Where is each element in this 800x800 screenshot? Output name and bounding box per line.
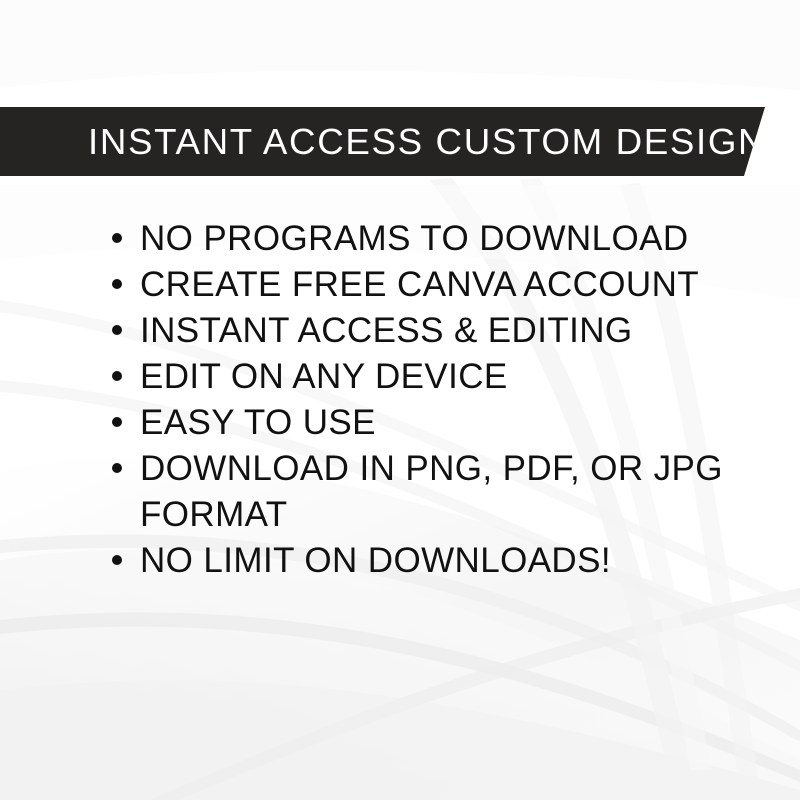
page-title: INSTANT ACCESS CUSTOM DESIGNS (88, 124, 792, 160)
list-item-continuation: FORMAT (112, 492, 712, 538)
list-item-label: CREATE FREE CANVA ACCOUNT (140, 262, 699, 308)
list-item-label: FORMAT (140, 492, 288, 538)
list-item-label: NO PROGRAMS TO DOWNLOAD (140, 216, 689, 262)
list-item-label: INSTANT ACCESS & EDITING (140, 308, 633, 354)
list-item: NO LIMIT ON DOWNLOADS! (112, 538, 712, 584)
promo-graphic: INSTANT ACCESS CUSTOM DESIGNS NO PROGRAM… (0, 0, 800, 800)
bullet-icon (112, 417, 122, 427)
list-item: DOWNLOAD IN PNG, PDF, OR JPG (112, 446, 712, 492)
bullet-icon (112, 463, 122, 473)
list-item-label: DOWNLOAD IN PNG, PDF, OR JPG (140, 446, 723, 492)
bullet-placeholder (112, 509, 122, 519)
feature-list: NO PROGRAMS TO DOWNLOAD CREATE FREE CANV… (112, 216, 712, 584)
bullet-icon (112, 555, 122, 565)
header-banner: INSTANT ACCESS CUSTOM DESIGNS (0, 107, 765, 176)
list-item: CREATE FREE CANVA ACCOUNT (112, 262, 712, 308)
list-item-label: NO LIMIT ON DOWNLOADS! (140, 538, 611, 584)
list-item: EDIT ON ANY DEVICE (112, 354, 712, 400)
list-item-label: EDIT ON ANY DEVICE (140, 354, 508, 400)
list-item: EASY TO USE (112, 400, 712, 446)
bullet-icon (112, 233, 122, 243)
bullet-icon (112, 371, 122, 381)
bullet-icon (112, 325, 122, 335)
list-item-label: EASY TO USE (140, 400, 376, 446)
list-item: INSTANT ACCESS & EDITING (112, 308, 712, 354)
list-item: NO PROGRAMS TO DOWNLOAD (112, 216, 712, 262)
bullet-icon (112, 279, 122, 289)
